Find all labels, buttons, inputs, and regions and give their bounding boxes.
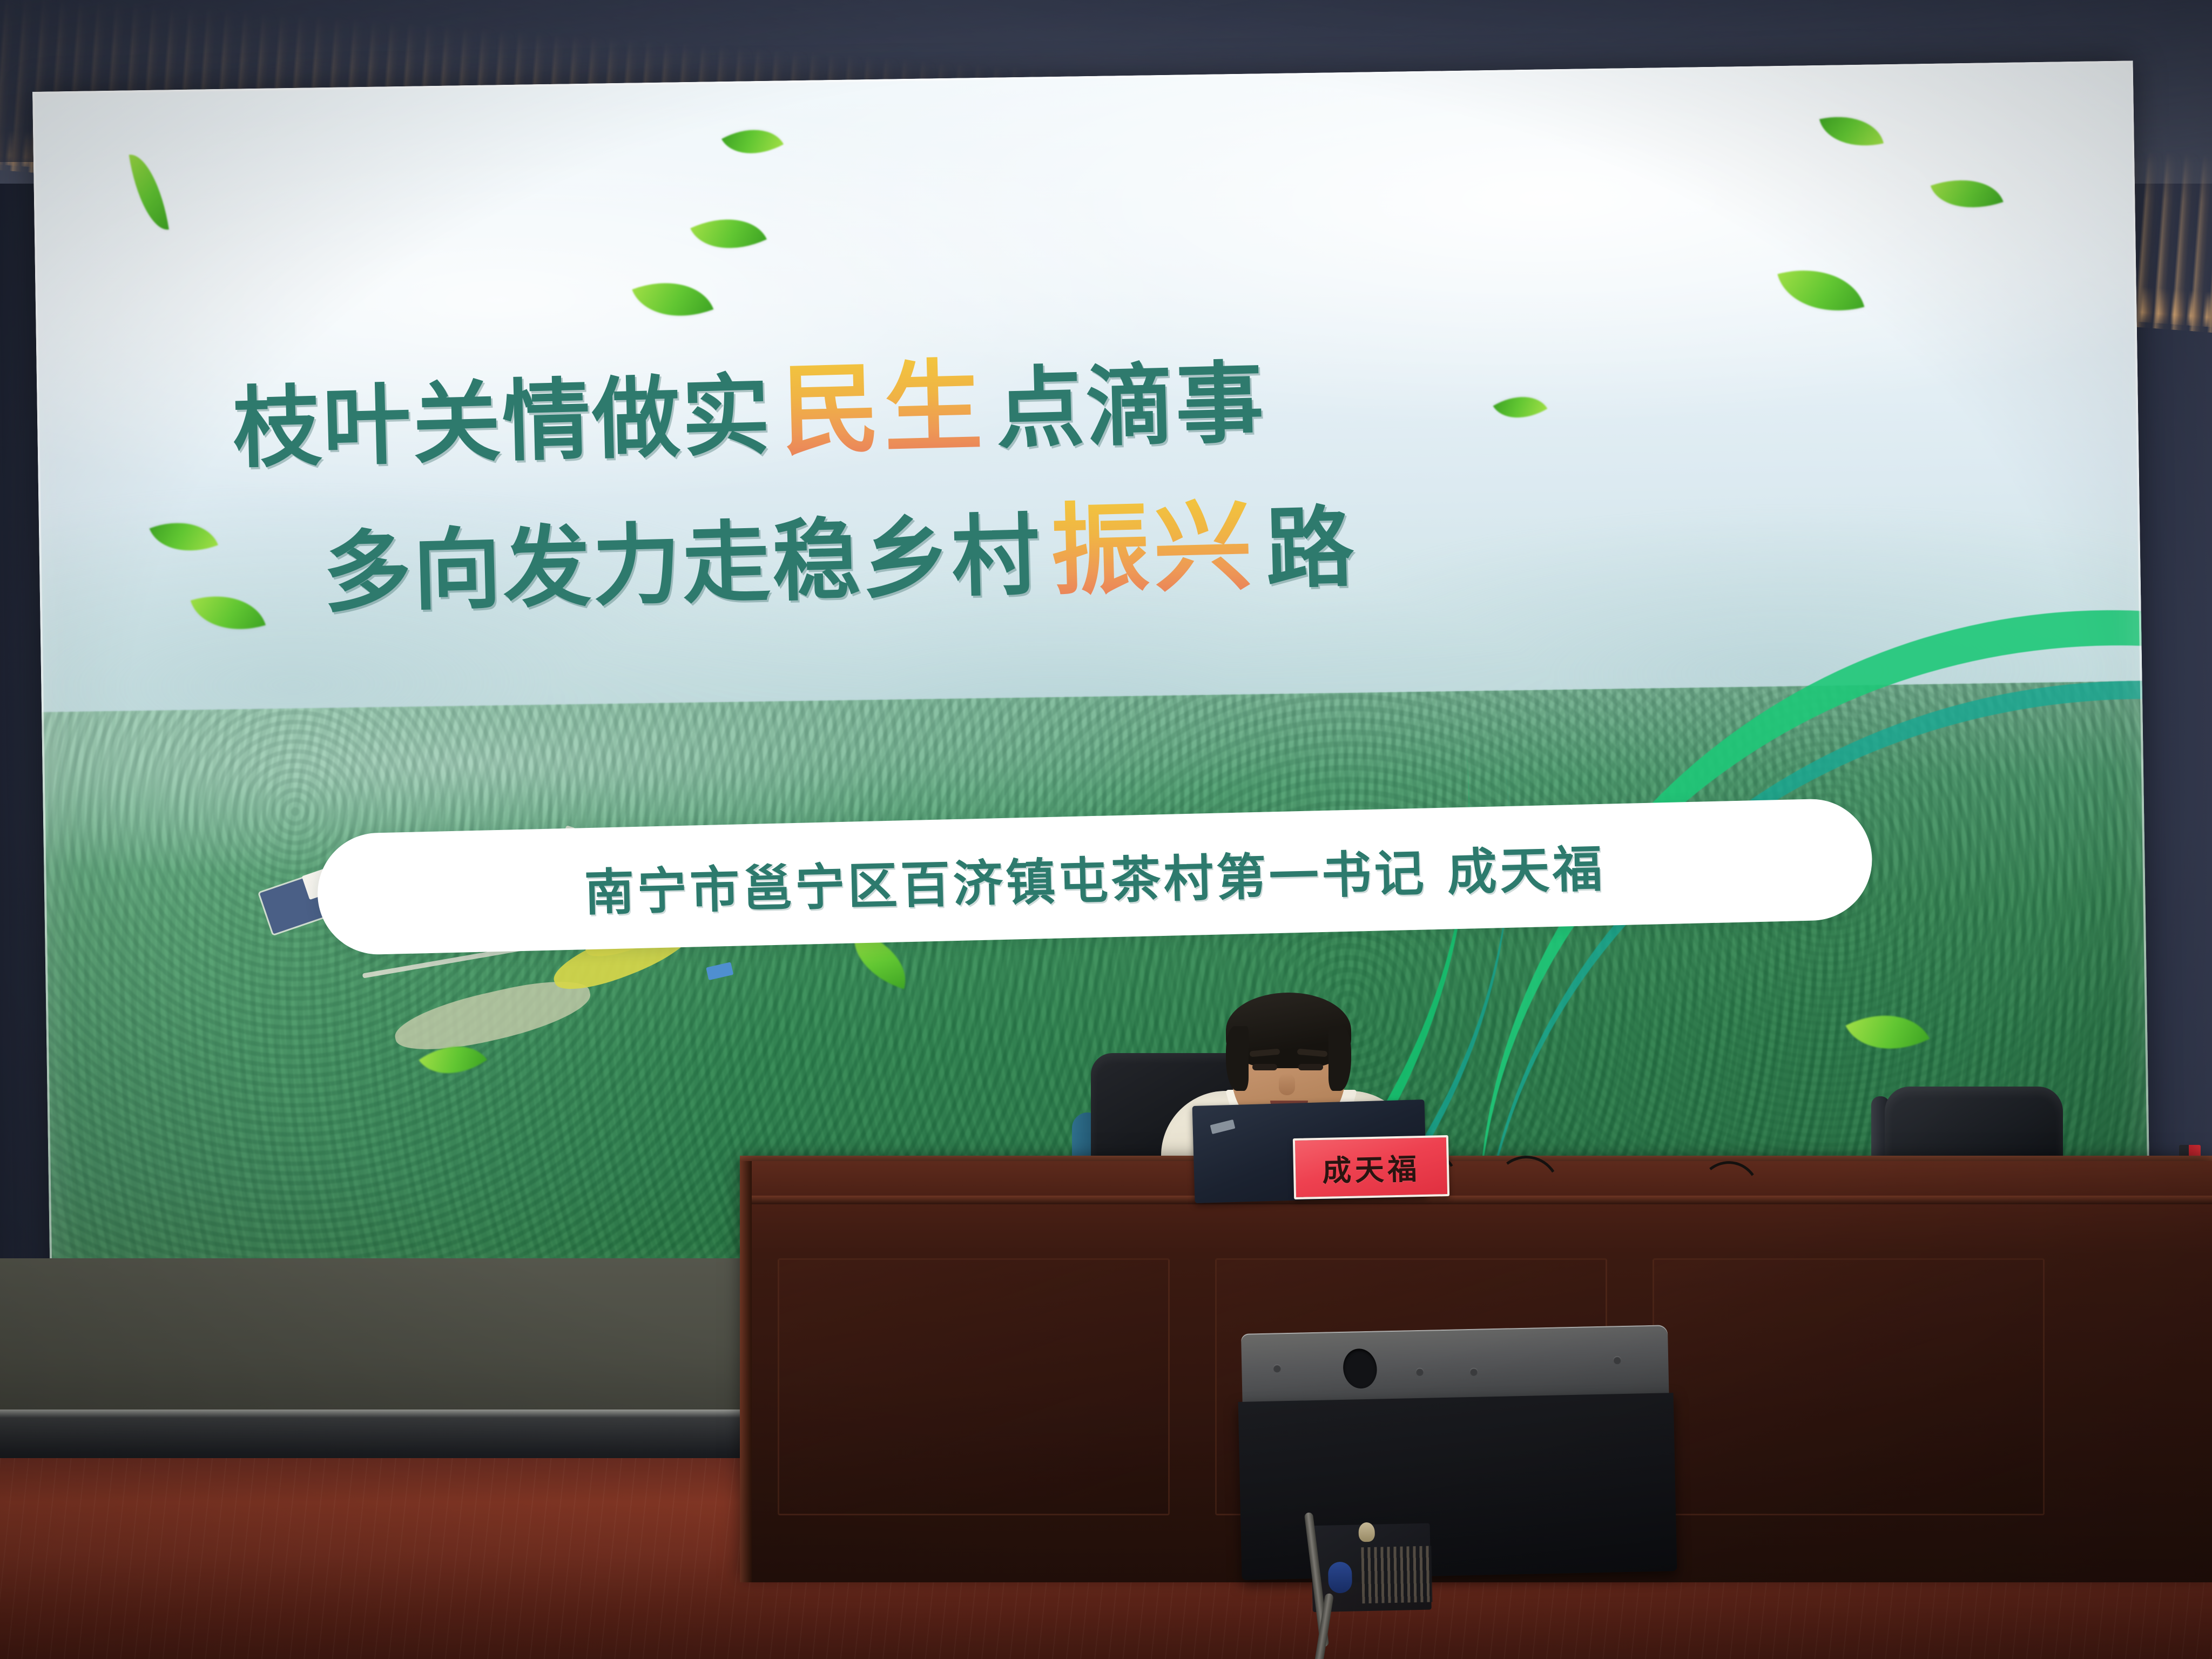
speaker-nose: [1279, 1074, 1295, 1095]
monitor-front-grille: [1238, 1393, 1677, 1580]
title-line2-part-a: 多向发力走稳乡村: [322, 503, 1043, 625]
podium-panel: [778, 1258, 1170, 1515]
monitor-speakon-jack: [1328, 1562, 1352, 1594]
monitor-screw: [1469, 1368, 1478, 1376]
podium-panel: [1653, 1258, 2045, 1515]
speaker-hair-right: [1328, 1026, 1351, 1091]
monitor-brand-badge-icon: [1358, 1522, 1375, 1542]
monitor-vent-slats: [1361, 1546, 1432, 1604]
title-line2-highlight: 振兴: [1040, 488, 1267, 609]
monitor-handle-hole: [1340, 1346, 1380, 1391]
slide-title-line-2: 多向发力走稳乡村振兴路: [321, 463, 1357, 632]
podium-left-edge: [740, 1161, 752, 1582]
title-line1-highlight: 民生: [770, 348, 997, 469]
conference-stage-photo: 枝叶关情做实民生点滴事 多向发力走稳乡村振兴路 南宁市邕宁区百济镇屯茶村第一书记…: [0, 0, 2212, 1659]
title-line1-part-b: 点滴事: [995, 351, 1266, 461]
slide-title-line-1: 枝叶关情做实民生点滴事: [231, 319, 1266, 488]
speaker-hair-left: [1226, 1026, 1249, 1091]
name-placard: 成天福: [1293, 1135, 1449, 1199]
podium-edge-lip: [740, 1196, 2212, 1204]
monitor-screw: [1613, 1356, 1621, 1364]
monitor-screw: [1415, 1368, 1424, 1376]
monitor-screw: [1273, 1364, 1281, 1372]
name-placard-text: 成天福: [1321, 1145, 1420, 1190]
title-line2-part-b: 路: [1265, 495, 1357, 601]
stage-monitor-speaker: [1237, 1325, 1676, 1577]
slide-subtitle-text: 南宁市邕宁区百济镇屯茶村第一书记 成天福: [583, 829, 1606, 925]
speaker-eye-right: [1298, 1064, 1323, 1070]
speaker-eye-left: [1252, 1064, 1277, 1070]
title-line1-part-a: 枝叶关情做实: [232, 363, 773, 480]
